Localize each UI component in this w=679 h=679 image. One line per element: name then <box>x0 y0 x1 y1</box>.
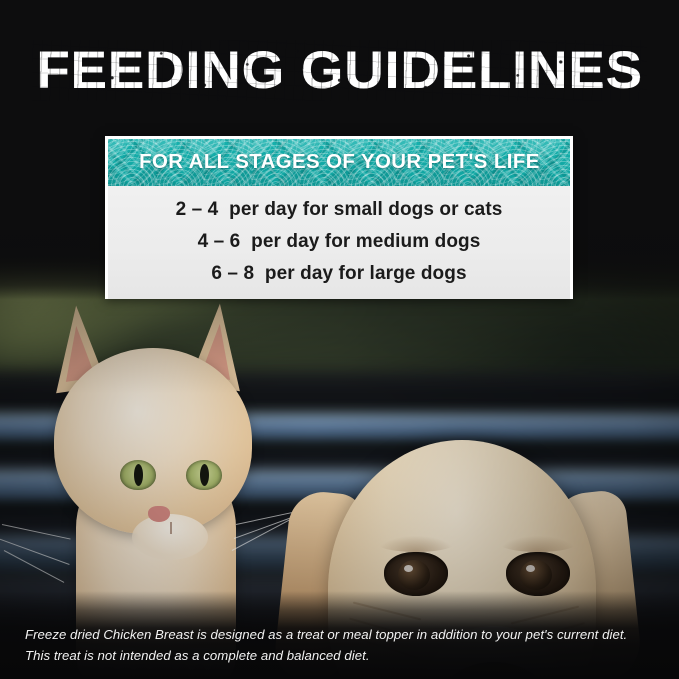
guideline-row: 4 – 6 per day for medium dogs <box>108 226 570 258</box>
guideline-text: per day for large dogs <box>254 258 467 290</box>
guideline-row: 2 – 4 per day for small dogs or cats <box>108 194 570 226</box>
page-title: FEEDING GUIDELINES <box>0 44 679 97</box>
feeding-guidelines-infographic: FEEDING GUIDELINES FOR ALL STAGES OF YOU… <box>0 0 679 679</box>
guideline-text: per day for medium dogs <box>240 226 480 258</box>
card-body: 2 – 4 per day for small dogs or cats 4 –… <box>108 186 570 299</box>
guideline-amount: 4 – 6 <box>198 226 241 258</box>
guideline-text: per day for small dogs or cats <box>218 194 502 226</box>
guideline-amount: 2 – 4 <box>176 194 219 226</box>
guideline-text-value: per day for medium dogs <box>251 231 480 252</box>
page-title-text: FEEDING GUIDELINES <box>36 44 643 97</box>
disclaimer-line-2: This treat is not intended as a complete… <box>25 645 665 666</box>
guideline-row: 6 – 8 per day for large dogs <box>108 258 570 290</box>
guideline-text-value: per day for large dogs <box>265 263 467 284</box>
feeding-guidelines-card: FOR ALL STAGES OF YOUR PET'S LIFE 2 – 4 … <box>105 136 573 299</box>
guideline-amount: 6 – 8 <box>211 258 254 290</box>
card-header-banner: FOR ALL STAGES OF YOUR PET'S LIFE <box>108 139 570 186</box>
background-photo <box>0 0 679 679</box>
disclaimer-line-1: Freeze dried Chicken Breast is designed … <box>25 624 665 645</box>
disclaimer: Freeze dried Chicken Breast is designed … <box>25 624 665 666</box>
guideline-text-value: per day for small dogs or cats <box>229 199 502 220</box>
card-header-title: FOR ALL STAGES OF YOUR PET'S LIFE <box>139 151 540 174</box>
